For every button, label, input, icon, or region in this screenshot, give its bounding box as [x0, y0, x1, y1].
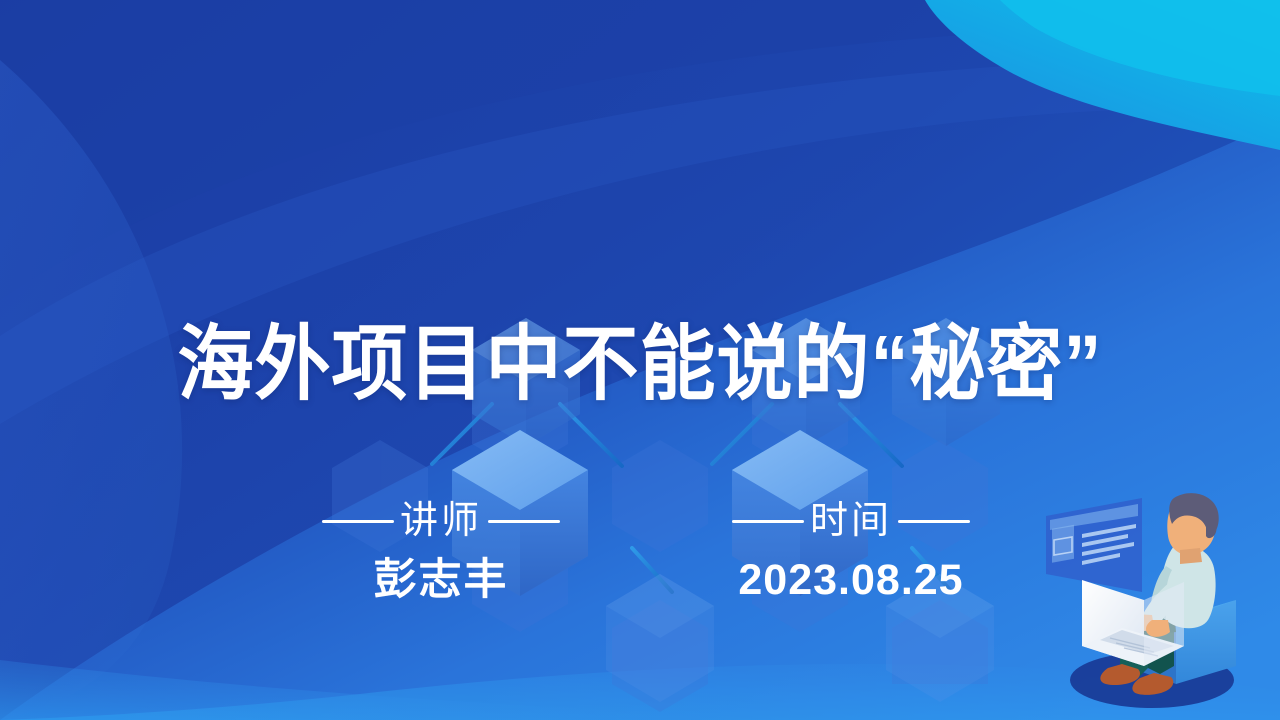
illustration-person-on-cube-with-laptop [1024, 470, 1274, 720]
meta-time-value: 2023.08.25 [646, 558, 1056, 603]
presentation-slide: 海外项目中不能说的“秘密” 讲师 彭志丰 时间 2023.08.25 [0, 0, 1280, 720]
illustration-svg [1024, 470, 1274, 720]
meta-column-speaker: 讲师 彭志丰 [236, 498, 646, 628]
floating-ui-panel [1046, 498, 1142, 592]
meta-speaker-heading: 讲师 [236, 498, 646, 544]
slide-title: 海外项目中不能说的“秘密” [178, 324, 1103, 406]
rule-left-icon [732, 520, 804, 523]
laptop [1082, 580, 1184, 666]
meta-speaker-label: 讲师 [400, 502, 482, 540]
meta-time-label: 时间 [810, 502, 892, 540]
rule-right-icon [898, 520, 970, 523]
person-neck [1180, 548, 1202, 564]
rule-right-icon [488, 520, 560, 523]
meta-speaker-value: 彭志丰 [236, 558, 646, 603]
title-block: 海外项目中不能说的“秘密” [0, 276, 1280, 454]
meta-column-time: 时间 2023.08.25 [646, 498, 1056, 628]
person-head [1167, 493, 1218, 555]
meta-time-heading: 时间 [646, 498, 1056, 544]
rule-left-icon [322, 520, 394, 523]
meta-row: 讲师 彭志丰 时间 2023.08.25 [236, 498, 1056, 628]
